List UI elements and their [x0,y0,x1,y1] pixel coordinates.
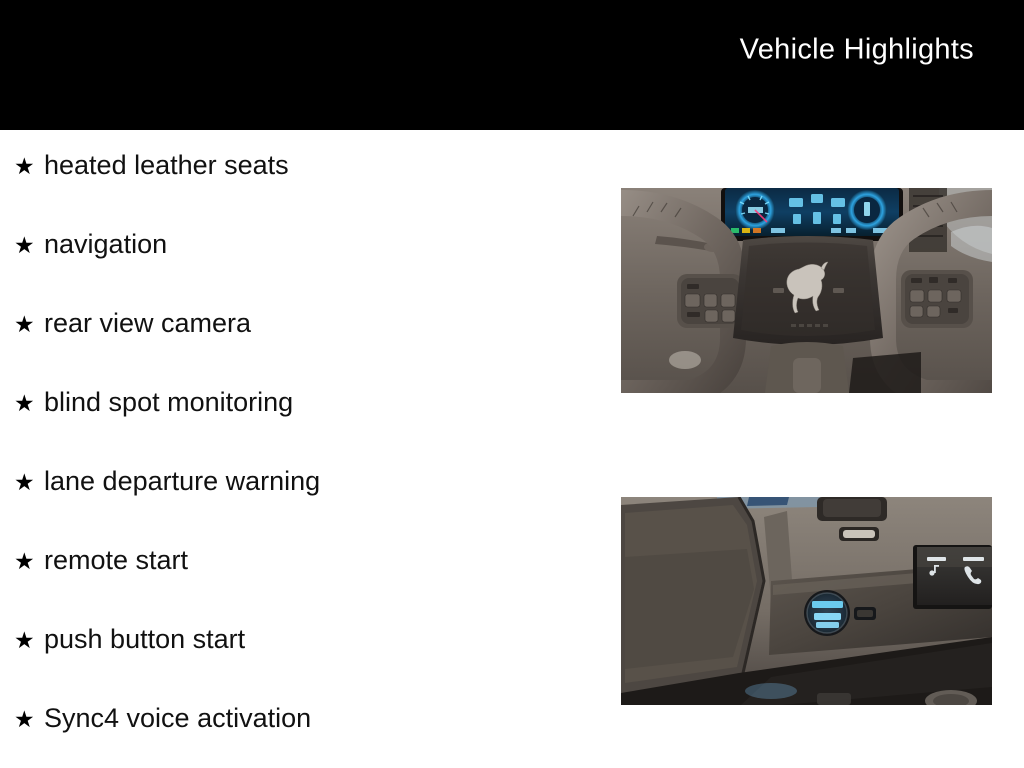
list-item: ★ rear view camera [14,310,574,389]
list-item: ★ navigation [14,231,574,310]
star-bullet-icon: ★ [14,234,44,257]
list-item: ★ heated leather seats [14,152,574,231]
vehicle-features-list: ★ heated leather seats ★ navigation ★ re… [14,152,574,768]
feature-label: lane departure warning [44,468,320,495]
steering-wheel-photo [621,188,992,393]
star-bullet-icon: ★ [14,550,44,573]
feature-label: heated leather seats [44,152,289,179]
star-bullet-icon: ★ [14,471,44,494]
feature-label: push button start [44,626,245,653]
list-item: ★ Sync4 voice activation [14,705,574,768]
page-title: Vehicle Highlights [740,34,974,67]
feature-label: blind spot monitoring [44,389,293,416]
feature-label: remote start [44,547,188,574]
list-item: ★ push button start [14,626,574,705]
star-bullet-icon: ★ [14,708,44,731]
star-bullet-icon: ★ [14,155,44,178]
slide-root: Vehicle Highlights ★ heated leather seat… [0,0,1024,768]
feature-label: Sync4 voice activation [44,705,311,732]
feature-label: navigation [44,231,167,258]
list-item: ★ remote start [14,547,574,626]
star-bullet-icon: ★ [14,629,44,652]
start-button-photo [621,497,992,705]
list-item: ★ lane departure warning [14,468,574,547]
star-bullet-icon: ★ [14,392,44,415]
slide-header-bar: Vehicle Highlights [0,0,1024,130]
star-bullet-icon: ★ [14,313,44,336]
feature-label: rear view camera [44,310,251,337]
list-item: ★ blind spot monitoring [14,389,574,468]
